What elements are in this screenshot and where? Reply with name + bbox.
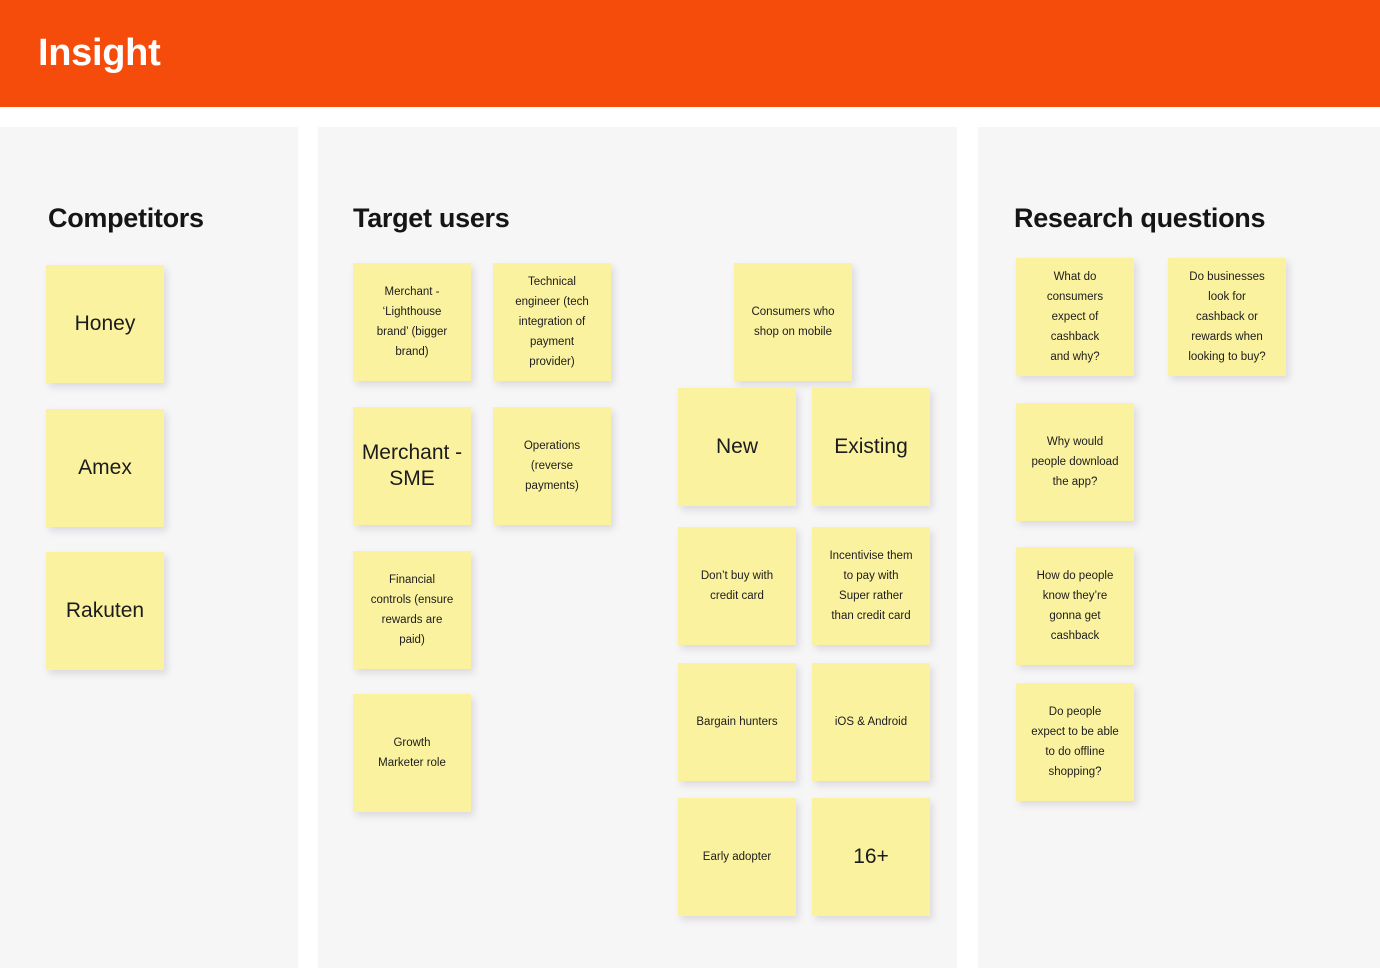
sticky-note[interactable]: Don’t buy with credit card: [678, 527, 796, 645]
sticky-note-text: Technical engineer (tech integration of …: [500, 272, 604, 372]
sticky-note-text: Existing: [819, 434, 923, 460]
sticky-note-text: Bargain hunters: [685, 712, 789, 732]
sticky-note-text: Incentivise them to pay with Super rathe…: [819, 546, 923, 626]
sticky-note[interactable]: New: [678, 388, 796, 506]
panel-target-users: Target users Merchant - ‘Lighthouse bran…: [318, 127, 957, 968]
sticky-note-text: Operations (reverse payments): [500, 436, 604, 496]
sticky-note[interactable]: 16+: [812, 798, 930, 916]
sticky-note[interactable]: How do people know they’re gonna get cas…: [1016, 547, 1134, 665]
sticky-note[interactable]: Amex: [46, 409, 164, 527]
sticky-note[interactable]: Do people expect to be able to do offlin…: [1016, 683, 1134, 801]
panel-research-questions: Research questions What do consumers exp…: [978, 127, 1380, 968]
sticky-note[interactable]: Merchant - ‘Lighthouse brand’ (bigger br…: [353, 263, 471, 381]
sticky-note-text: 16+: [819, 844, 923, 870]
sticky-note-text: Don’t buy with credit card: [685, 566, 789, 606]
sticky-note-text: iOS & Android: [819, 712, 923, 732]
sticky-note-text: New: [685, 434, 789, 460]
page-title: Insight: [38, 28, 160, 78]
sticky-note-text: Financial controls (ensure rewards are p…: [360, 570, 464, 650]
sticky-note[interactable]: Bargain hunters: [678, 663, 796, 781]
sticky-note-text: Consumers who shop on mobile: [741, 302, 845, 342]
panel-title-target-users: Target users: [353, 203, 509, 234]
sticky-note[interactable]: Financial controls (ensure rewards are p…: [353, 551, 471, 669]
sticky-note[interactable]: Incentivise them to pay with Super rathe…: [812, 527, 930, 645]
sticky-note-text: Do businesses look for cashback or rewar…: [1175, 267, 1279, 367]
insight-board: Insight Competitors HoneyAmexRakuten Tar…: [0, 0, 1380, 968]
panel-title-competitors: Competitors: [48, 203, 204, 234]
sticky-note[interactable]: iOS & Android: [812, 663, 930, 781]
sticky-note[interactable]: What do consumers expect of cashback and…: [1016, 258, 1134, 376]
sticky-note-text: Amex: [53, 455, 157, 481]
sticky-note[interactable]: Existing: [812, 388, 930, 506]
sticky-note-text: How do people know they’re gonna get cas…: [1023, 566, 1127, 646]
sticky-note[interactable]: Growth Marketer role: [353, 694, 471, 812]
sticky-note-text: Rakuten: [53, 598, 157, 624]
sticky-note[interactable]: Consumers who shop on mobile: [734, 263, 852, 381]
sticky-note[interactable]: Early adopter: [678, 798, 796, 916]
sticky-note[interactable]: Honey: [46, 265, 164, 383]
sticky-note-text: Early adopter: [685, 847, 789, 867]
sticky-note-text: What do consumers expect of cashback and…: [1023, 267, 1127, 367]
sticky-note-text: Growth Marketer role: [360, 733, 464, 773]
sticky-note-text: Honey: [53, 311, 157, 337]
sticky-note-text: Do people expect to be able to do offlin…: [1023, 702, 1127, 782]
sticky-note[interactable]: Rakuten: [46, 552, 164, 670]
panel-title-research-questions: Research questions: [1014, 203, 1265, 234]
app-header: Insight: [0, 0, 1380, 107]
sticky-note-text: Why would people download the app?: [1023, 432, 1127, 492]
sticky-note-text: Merchant - ‘Lighthouse brand’ (bigger br…: [360, 282, 464, 362]
sticky-note[interactable]: Operations (reverse payments): [493, 407, 611, 525]
sticky-note[interactable]: Do businesses look for cashback or rewar…: [1168, 258, 1286, 376]
sticky-note[interactable]: Technical engineer (tech integration of …: [493, 263, 611, 381]
panel-competitors: Competitors HoneyAmexRakuten: [0, 127, 298, 968]
sticky-note[interactable]: Merchant - SME: [353, 407, 471, 525]
sticky-note-text: Merchant - SME: [360, 440, 464, 492]
sticky-note[interactable]: Why would people download the app?: [1016, 403, 1134, 521]
